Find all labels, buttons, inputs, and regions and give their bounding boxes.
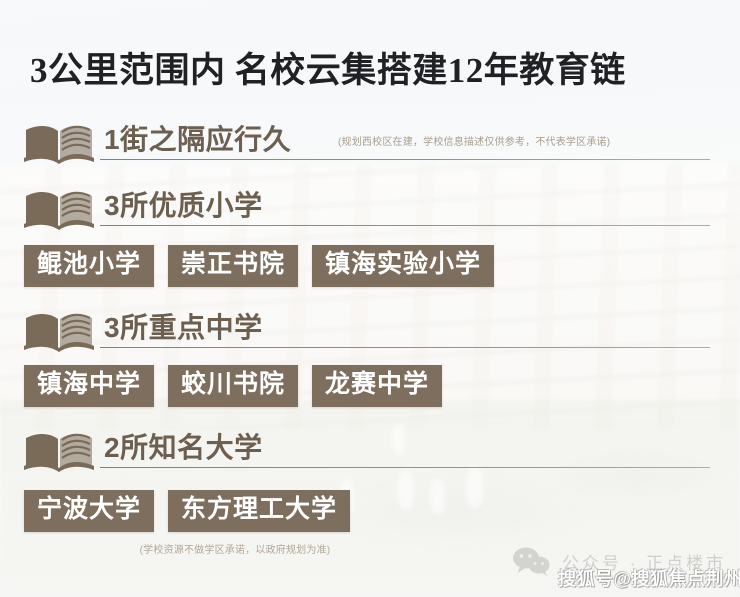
section-middle-schools: 3所重点中学 (0, 300, 740, 356)
section-header: 3所优质小学 (0, 178, 740, 234)
open-book-icon (22, 120, 98, 164)
open-book-icon (22, 308, 98, 352)
sohu-watermark-label: 搜狐号@搜狐焦点荆州站 (558, 565, 740, 591)
section-title: 1街之隔应行久 (104, 118, 291, 158)
school-tag[interactable]: 镇海实验小学 (312, 245, 494, 287)
section-primary-schools: 3所优质小学 (0, 178, 740, 234)
infographic-page: 3公里范围内 名校云集搭建12年教育链 1街之隔应行久 (规划西校区在建，学校信… (0, 0, 740, 597)
open-book-icon (22, 428, 98, 472)
middle-school-tags: 镇海中学 蛟川书院 龙赛中学 (24, 365, 442, 407)
section-header: 2所知名大学 (0, 420, 740, 476)
wechat-logo-icon (512, 546, 552, 576)
bottom-disclaimer: (学校资源不做学区承诺，以政府规划为准) (0, 541, 470, 556)
background-figure (398, 470, 414, 510)
section-divider (100, 225, 710, 226)
page-title: 3公里范围内 名校云集搭建12年教育链 (30, 42, 626, 93)
school-tag[interactable]: 龙赛中学 (312, 365, 442, 407)
school-tag[interactable]: 蛟川书院 (168, 365, 298, 407)
section-divider (100, 347, 710, 348)
university-tags: 宁波大学 东方理工大学 (24, 490, 350, 532)
school-tag[interactable]: 东方理工大学 (168, 490, 350, 532)
section-header: 3所重点中学 (0, 300, 740, 356)
primary-school-tags: 鲲池小学 崇正书院 镇海实验小学 (24, 245, 494, 287)
section-street: 1街之隔应行久 (规划西校区在建，学校信息描述仅供参考，不代表学区承诺) (0, 112, 740, 168)
section-header: 1街之隔应行久 (规划西校区在建，学校信息描述仅供参考，不代表学区承诺) (0, 112, 740, 168)
background-figure (430, 478, 445, 514)
open-book-icon (22, 186, 98, 230)
section-title: 2所知名大学 (104, 426, 263, 466)
section-divider (100, 159, 710, 160)
school-tag[interactable]: 鲲池小学 (24, 245, 154, 287)
section-title: 3所优质小学 (104, 184, 263, 224)
section-divider (100, 467, 710, 468)
school-tag[interactable]: 镇海中学 (24, 365, 154, 407)
section-note: (规划西校区在建，学校信息描述仅供参考，不代表学区承诺) (338, 133, 610, 148)
section-title: 3所重点中学 (104, 306, 263, 346)
school-tag[interactable]: 崇正书院 (168, 245, 298, 287)
section-universities: 2所知名大学 (0, 420, 740, 476)
school-tag[interactable]: 宁波大学 (24, 490, 154, 532)
